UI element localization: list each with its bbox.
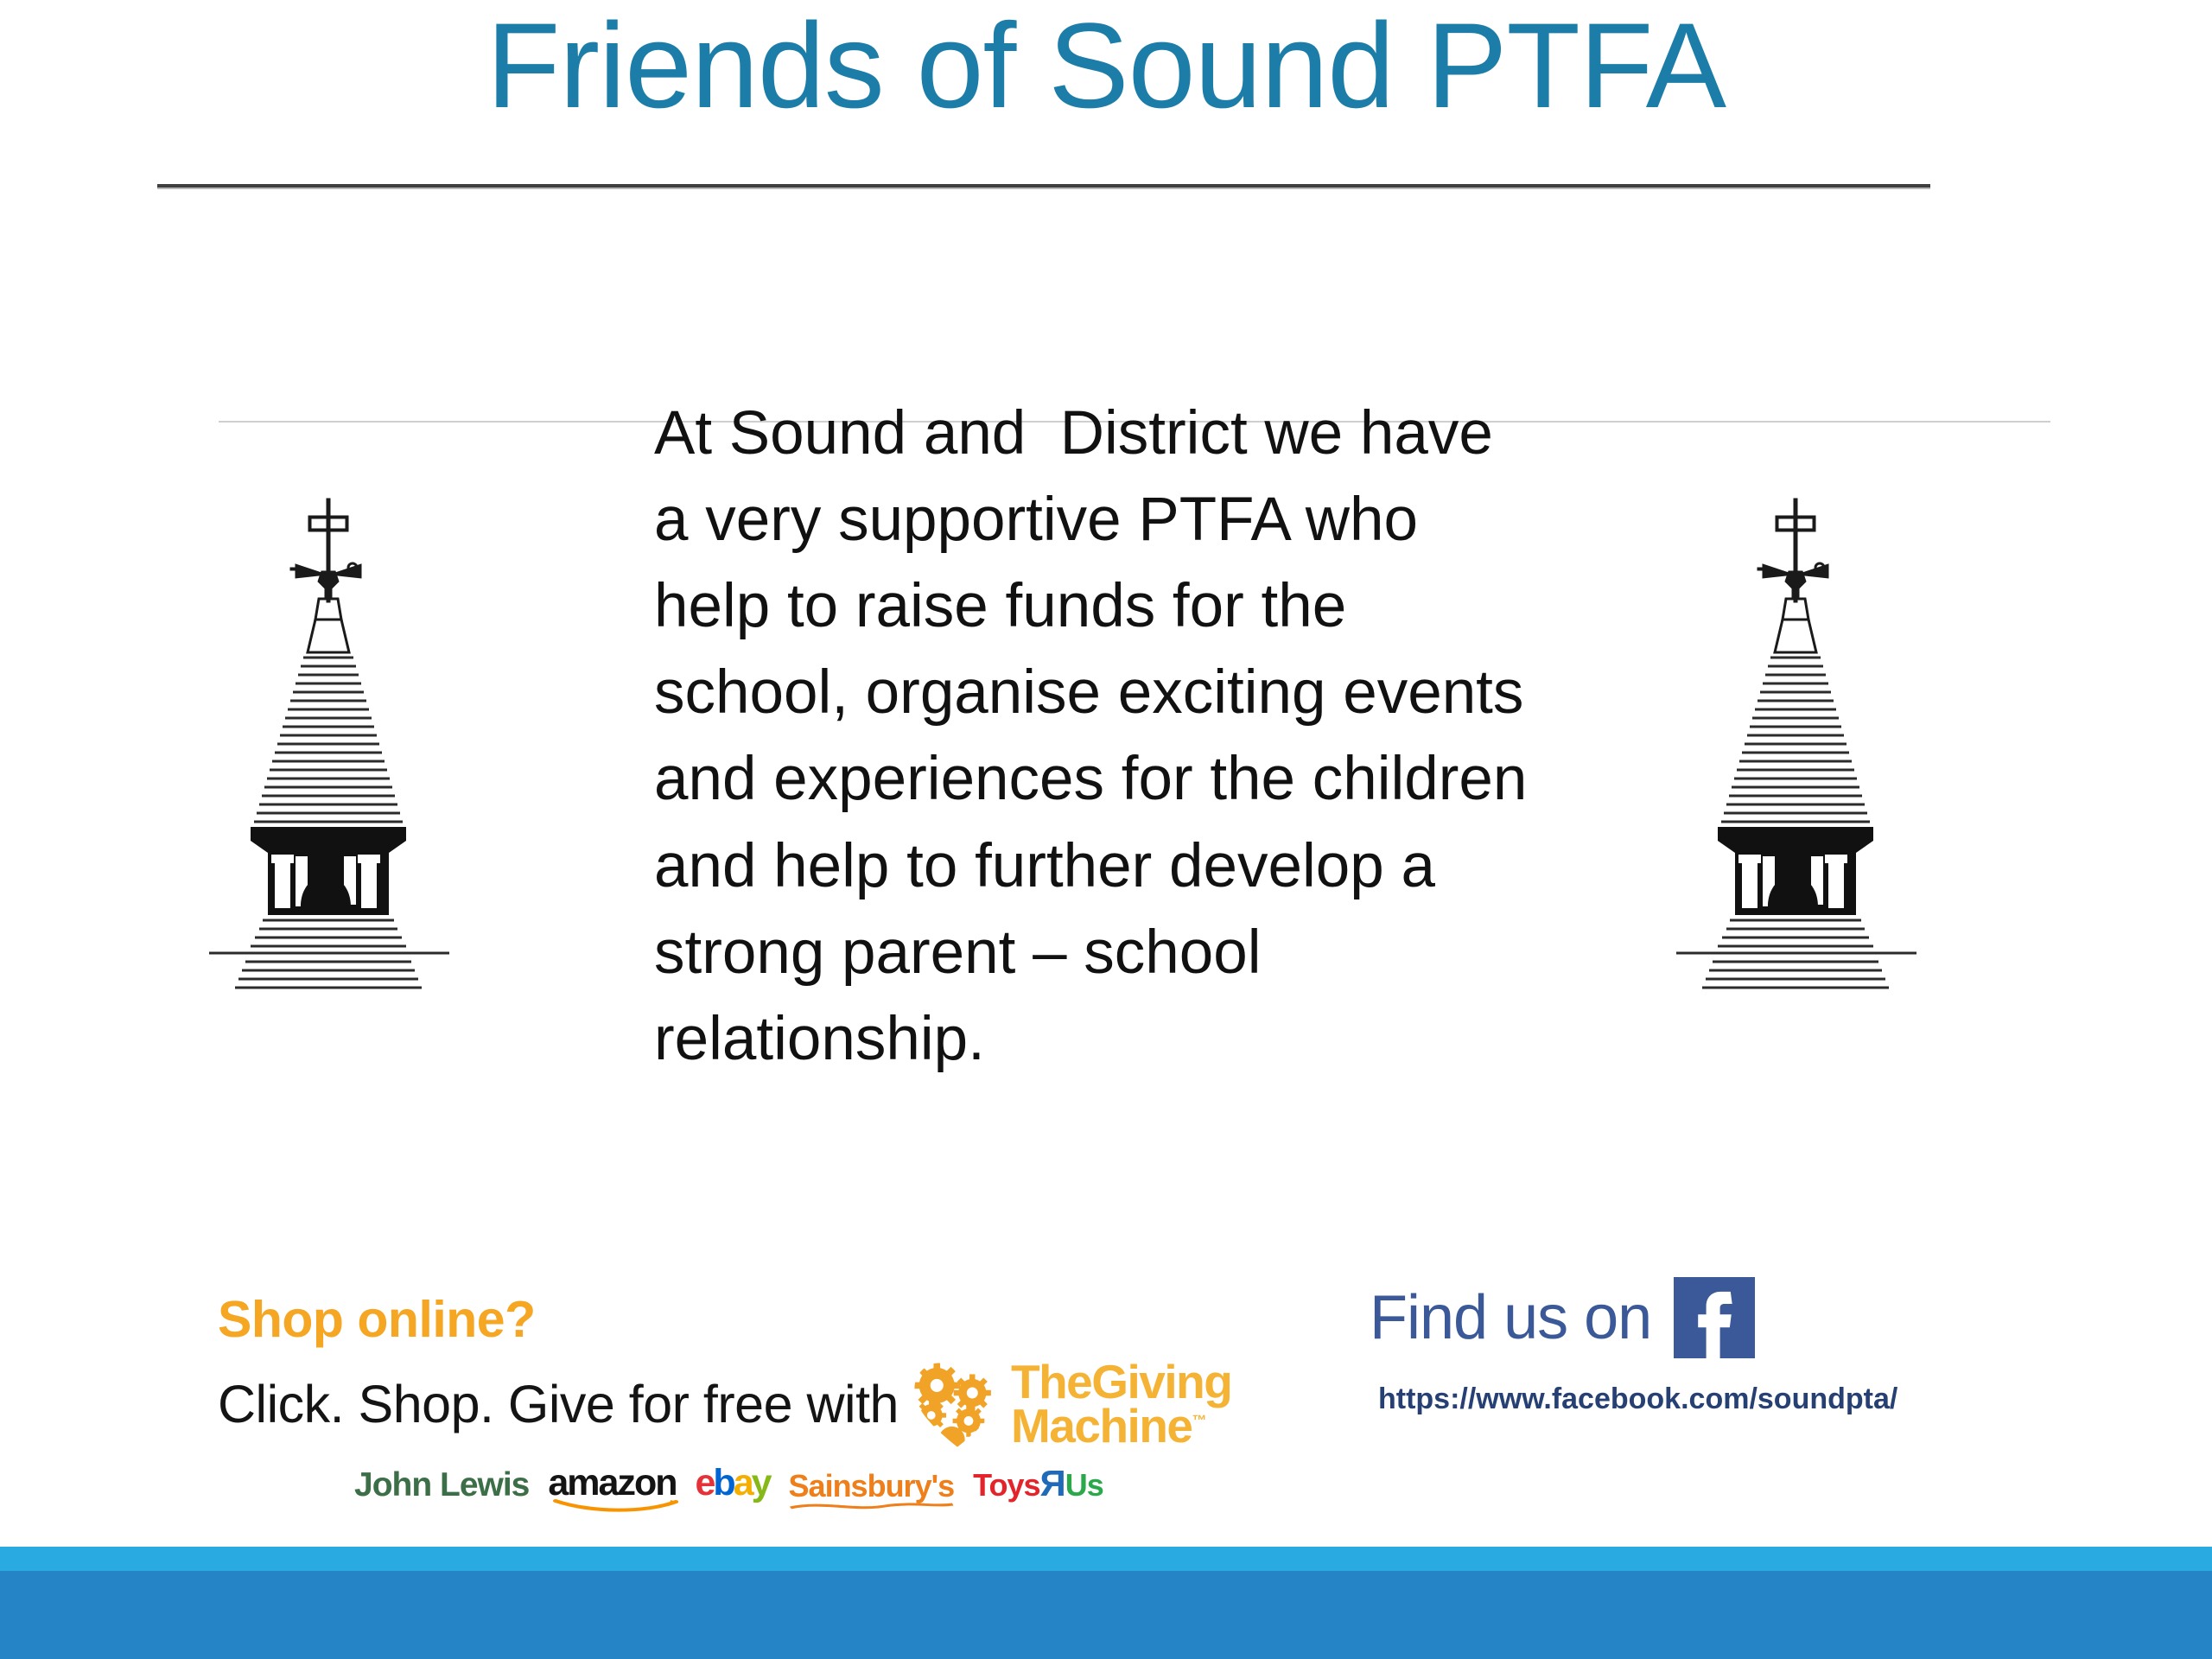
find-us-on-label: Find us on xyxy=(1370,1287,1651,1349)
church-spire-image-right xyxy=(1668,488,1935,994)
amazon-smile-icon xyxy=(553,1499,681,1513)
giving-machine-brand-line2: Machine™ xyxy=(1011,1404,1231,1448)
retailer-logo-amazon: amazon xyxy=(548,1465,676,1502)
facebook-row: Find us on xyxy=(1370,1277,1897,1358)
giving-machine-tagline: Click. Shop. Give for free with xyxy=(218,1378,899,1431)
sainsburys-swoosh-icon xyxy=(789,1500,955,1514)
retailer-logo-ebay: ebay xyxy=(695,1465,769,1502)
church-spire-image-left xyxy=(200,488,468,994)
giving-machine-row: Click. Shop. Give for free with xyxy=(218,1357,1298,1451)
gears-heart-icon xyxy=(911,1357,1004,1451)
body-paragraph: At Sound and District we have a very sup… xyxy=(654,391,1535,1083)
footer-band-light xyxy=(0,1547,2212,1571)
giving-machine-wordmark: TheGiving Machine™ xyxy=(1011,1360,1231,1447)
shop-online-heading: Shop online? xyxy=(218,1294,1298,1345)
facebook-section: Find us on https://www.facebook.com/soun… xyxy=(1370,1277,1897,1416)
retailer-logo-sainsburys: Sainsbury's xyxy=(789,1471,955,1502)
giving-machine-section: Shop online? Click. Shop. Give for free … xyxy=(218,1294,1298,1502)
retailer-label-sainsburys: Sainsbury's xyxy=(789,1468,955,1503)
facebook-f-icon[interactable] xyxy=(1674,1277,1755,1358)
giving-machine-logo: TheGiving Machine™ xyxy=(911,1357,1231,1451)
retailer-label-amazon: amazon xyxy=(548,1462,676,1503)
retailer-logo-john-lewis: John Lewis xyxy=(354,1468,529,1502)
giving-machine-brand-line1: TheGiving xyxy=(1011,1360,1231,1404)
facebook-url-link[interactable]: https://www.facebook.com/soundpta/ xyxy=(1378,1382,1897,1416)
trademark-symbol: ™ xyxy=(1192,1413,1207,1429)
footer-band-dark xyxy=(0,1571,2212,1659)
page-title: Friends of Sound PTFA xyxy=(0,5,2212,126)
retailer-logo-toys-r-us: ToysЯUs xyxy=(973,1465,1103,1502)
retailer-logo-strip: John Lewis amazon ebay Sainsbury's ToysЯ… xyxy=(354,1465,1298,1502)
title-divider xyxy=(157,184,1930,188)
